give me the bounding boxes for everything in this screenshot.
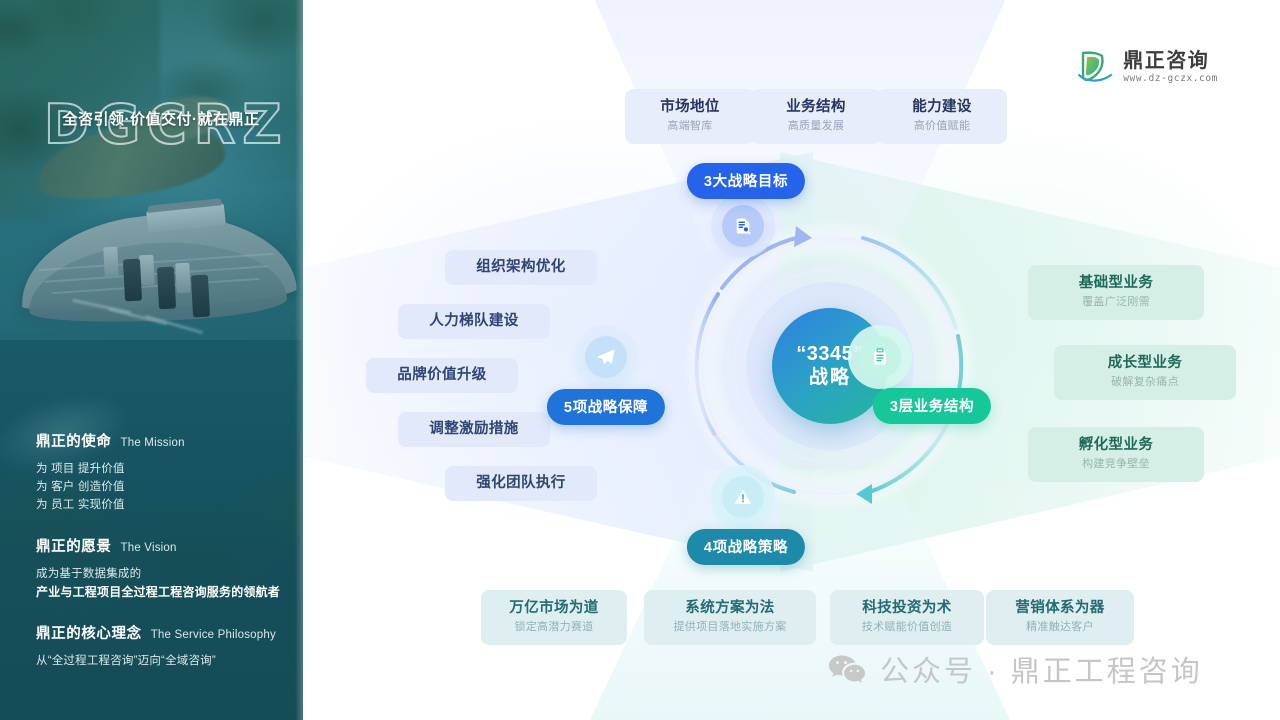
philosophy-title-en: The Service Philosophy [151, 629, 276, 641]
brand-name: 鼎正咨询 [1123, 50, 1218, 72]
wechat-watermark: 公众号 · 鼎正工程咨询 [828, 648, 1203, 690]
left-card-2-title: 人力梯队建设 [410, 312, 538, 331]
top-card-2-title: 业务结构 [765, 98, 867, 117]
bottom-card-3-title: 科技投资为术 [844, 599, 970, 618]
top-card-business-structure[interactable]: 业务结构 高质量发展 [751, 89, 881, 144]
sidebar-edge-gradient [295, 0, 303, 720]
wechat-icon [828, 654, 866, 684]
mission-line-1: 为 项目 提升价值 [36, 460, 286, 478]
philosophy-heading: 鼎正的核心理念 The Service Philosophy [36, 622, 286, 643]
right-card-3-title: 孵化型业务 [1042, 436, 1190, 455]
bottom-card-1-title: 万亿市场为道 [495, 599, 613, 618]
bottom-card-marketing[interactable]: 营销体系为器 精准触达客户 [986, 590, 1134, 645]
leaf-logo-icon [1078, 50, 1114, 84]
diagram-panel: “3345” 战略 [303, 0, 1280, 720]
badge-strategic-safeguards[interactable]: 5项战略保障 [547, 389, 665, 425]
top-card-capability-building[interactable]: 能力建设 高价值赋能 [877, 89, 1007, 144]
bottom-card-technology[interactable]: 科技投资为术 技术赋能价值创造 [830, 590, 984, 645]
vision-line-1: 成为基于数据集成的 [36, 565, 286, 583]
philosophy-block: 鼎正的核心理念 The Service Philosophy 从“全过程工程咨询… [36, 622, 286, 670]
alert-triangle-icon[interactable] [722, 476, 764, 518]
bottom-card-1-subtitle: 锁定高潜力赛道 [495, 619, 613, 635]
top-card-3-subtitle: 高价值赋能 [891, 118, 993, 134]
right-card-incubation-business[interactable]: 孵化型业务 构建竞争壁垒 [1028, 427, 1204, 482]
top-card-3-title: 能力建设 [891, 98, 993, 117]
top-card-market-position[interactable]: 市场地位 高端智库 [625, 89, 755, 144]
vision-title-cn: 鼎正的愿景 [36, 535, 112, 556]
badge-strategic-tactics[interactable]: 4项战略策略 [687, 529, 805, 565]
brand-url: www.dz-gczx.com [1123, 73, 1218, 84]
right-card-foundation-business[interactable]: 基础型业务 覆盖广泛刚需 [1028, 265, 1204, 320]
bottom-card-2-subtitle: 提供项目落地实施方案 [658, 619, 802, 635]
bottom-card-3-subtitle: 技术赋能价值创造 [844, 619, 970, 635]
badge-strategic-goals[interactable]: 3大战略目标 [687, 163, 805, 199]
right-card-1-title: 基础型业务 [1042, 274, 1190, 293]
sidebar-wordmark: DGCRZ 全咨引领·价值交付·就在鼎正 [44, 90, 274, 160]
clipboard-icon[interactable] [859, 336, 901, 378]
left-card-team-execution[interactable]: 强化团队执行 [445, 466, 597, 501]
vision-block: 鼎正的愿景 The Vision 成为基于数据集成的 产业与工程项目全过程工程咨… [36, 535, 286, 601]
right-card-2-subtitle: 破解复杂痛点 [1068, 374, 1222, 390]
core-title-line2: 战略 [809, 366, 851, 390]
philosophy-line-1: 从“全过程工程咨询”迈向“全域咨询” [36, 652, 286, 670]
philosophy-title-cn: 鼎正的核心理念 [36, 622, 142, 643]
left-card-4-title: 调整激励措施 [410, 420, 538, 439]
badge-business-structure[interactable]: 3层业务结构 [873, 388, 991, 424]
right-card-growth-business[interactable]: 成长型业务 破解复杂痛点 [1054, 345, 1236, 400]
bottom-card-solution[interactable]: 系统方案为法 提供项目落地实施方案 [644, 590, 816, 645]
slide-root: DGCRZ 全咨引领·价值交付·就在鼎正 鼎正的使命 The Mission 为… [0, 0, 1280, 720]
mission-title-en: The Mission [121, 437, 185, 449]
brand-text-group: 鼎正咨询 www.dz-gczx.com [1123, 50, 1218, 84]
left-card-org-structure[interactable]: 组织架构优化 [445, 250, 597, 285]
right-card-3-subtitle: 构建竞争壁垒 [1042, 456, 1190, 472]
vision-heading: 鼎正的愿景 The Vision [36, 535, 286, 556]
top-card-2-subtitle: 高质量发展 [765, 118, 867, 134]
right-card-2-title: 成长型业务 [1068, 354, 1222, 373]
left-card-5-title: 强化团队执行 [457, 474, 585, 493]
mission-line-3: 为 员工 实现价值 [36, 496, 286, 514]
left-card-incentives[interactable]: 调整激励措施 [398, 412, 550, 447]
vision-line-2: 产业与工程项目全过程工程咨询服务的领航者 [36, 583, 286, 601]
document-search-icon[interactable] [722, 205, 764, 247]
left-card-talent-pipeline[interactable]: 人力梯队建设 [398, 304, 550, 339]
sidebar-text-blocks: 鼎正的使命 The Mission 为 项目 提升价值 为 客户 创造价值 为 … [36, 430, 286, 691]
sidebar-panel: DGCRZ 全咨引领·价值交付·就在鼎正 鼎正的使命 The Mission 为… [0, 0, 303, 720]
mission-heading: 鼎正的使命 The Mission [36, 430, 286, 451]
left-card-3-title: 品牌价值升级 [378, 366, 506, 385]
right-card-1-subtitle: 覆盖广泛刚需 [1042, 294, 1190, 310]
paper-plane-icon[interactable] [585, 336, 627, 378]
bottom-card-market[interactable]: 万亿市场为道 锁定高潜力赛道 [481, 590, 627, 645]
mission-block: 鼎正的使命 The Mission 为 项目 提升价值 为 客户 创造价值 为 … [36, 430, 286, 514]
mission-title-cn: 鼎正的使命 [36, 430, 112, 451]
bottom-card-2-title: 系统方案为法 [658, 599, 802, 618]
vision-title-en: The Vision [121, 542, 177, 554]
left-card-1-title: 组织架构优化 [457, 258, 585, 277]
bottom-card-4-subtitle: 精准触达客户 [1000, 619, 1120, 635]
left-card-brand-value[interactable]: 品牌价值升级 [366, 358, 518, 393]
top-card-1-title: 市场地位 [639, 98, 741, 117]
orbit-ring: “3345” 战略 [660, 196, 1000, 536]
mission-line-2: 为 客户 创造价值 [36, 478, 286, 496]
top-card-1-subtitle: 高端智库 [639, 118, 741, 134]
wordmark-slogan: 全咨引领·价值交付·就在鼎正 [46, 108, 276, 129]
wechat-watermark-text: 公众号 · 鼎正工程咨询 [880, 648, 1203, 690]
bottom-card-4-title: 营销体系为器 [1000, 599, 1120, 618]
company-logo: 鼎正咨询 www.dz-gczx.com [1078, 50, 1218, 84]
